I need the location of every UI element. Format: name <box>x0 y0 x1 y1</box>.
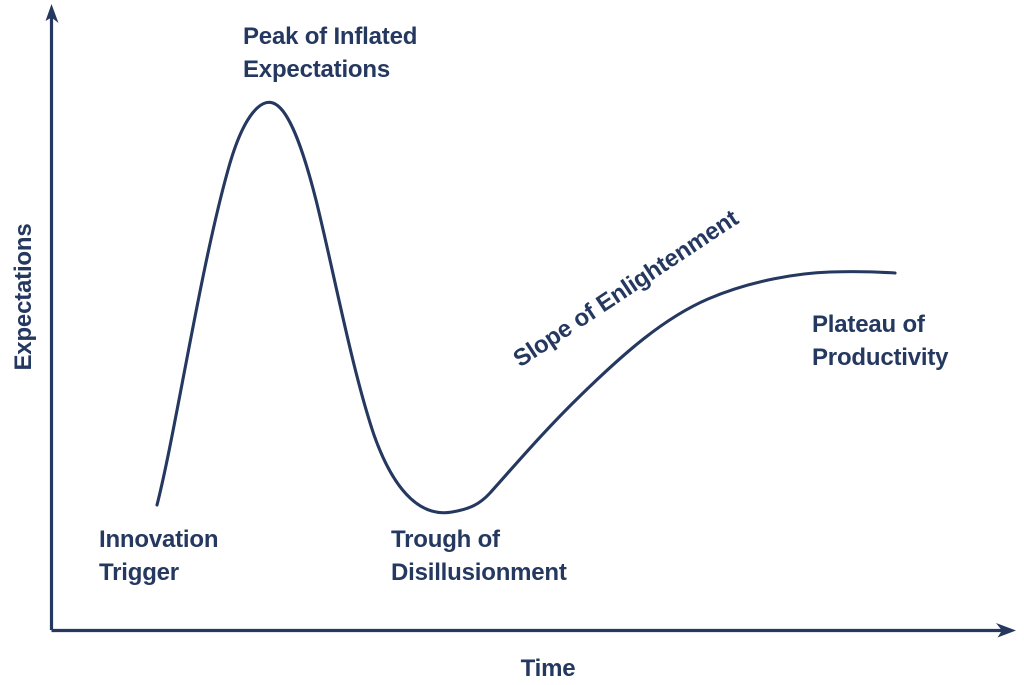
label-plateau-of-productivity: Plateau of Productivity <box>812 308 1024 374</box>
hype-cycle-figure: Peak of Inflated Expectations Innovation… <box>0 0 1024 682</box>
y-axis-label: Expectations <box>7 167 40 427</box>
hype-cycle-curve <box>157 102 895 512</box>
x-axis-label: Time <box>448 652 648 685</box>
label-trough-of-disillusionment: Trough of Disillusionment <box>391 523 671 589</box>
label-peak-of-inflated-expectations: Peak of Inflated Expectations <box>243 20 503 86</box>
label-innovation-trigger: Innovation Trigger <box>99 523 319 589</box>
